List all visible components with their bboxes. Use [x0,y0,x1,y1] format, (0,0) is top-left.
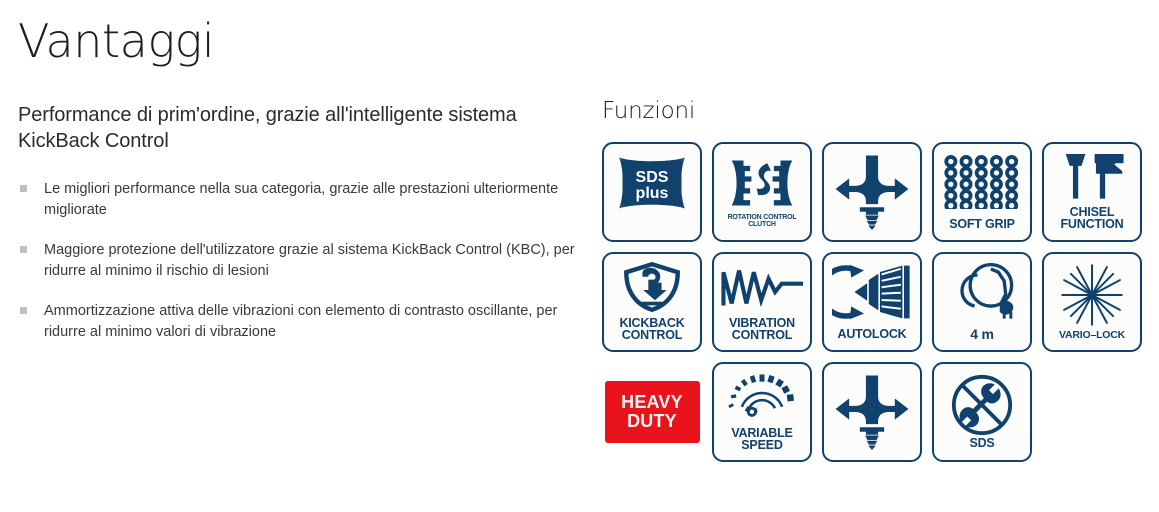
feature-tile-rotation-control: ROTATION CONTROL CLUTCH [712,142,812,242]
radial-starburst-icon [1044,254,1140,326]
drill-screw-arrows-icon [824,144,920,230]
feature-caption: SDS [934,437,1030,450]
feature-tile-autolock: AUTOLOCK [822,252,922,352]
bullet-marker-icon [20,307,27,314]
feature-tile-sds-plus: SDS plus [602,142,702,242]
feature-caption: 4 m [934,327,1030,341]
list-item-text: Ammortizzazione attiva delle vibrazioni … [44,303,557,340]
list-item-text: Le migliori performance nella sua catego… [44,181,558,218]
damped-wave-icon [714,254,810,307]
advantages-list: Le migliori performance nella sua catego… [18,155,583,343]
feature-tile-heavy-duty: HEAVY DUTY [602,362,702,462]
chuck-rotation-icon [824,254,920,320]
sds-plus-label: SDS plus [604,170,700,202]
functions-icon-grid: SDS plus ROTATION CONTROL CLUTCH [602,142,1159,462]
feature-caption: KICKBACK CONTROL [604,317,700,343]
drill-screw-arrows-icon [824,364,920,450]
feature-caption: SOFT GRIP [934,218,1030,231]
feature-caption: AUTOLOCK [824,328,920,341]
coiled-cable-plug-icon [934,254,1030,321]
feature-caption: VIBRATION CONTROL [714,317,810,343]
rotation-control-clutch-icon [714,144,810,210]
shield-arrow-icon [604,254,700,312]
page-title: Vantaggi [18,0,583,64]
feature-caption: CHISEL FUNCTION [1044,206,1140,232]
lead-paragraph: Performance di prim'ordine, grazie all'i… [18,64,558,155]
crossed-wrench-icon [934,364,1030,437]
feature-caption: ROTATION CONTROL CLUTCH [714,214,810,228]
soft-grip-dots-icon [934,144,1030,209]
speed-gauge-icon [714,364,810,419]
functions-title: Funzioni [602,0,1159,123]
list-item-text: Maggiore protezione dell'utilizzatore gr… [44,242,575,279]
feature-tile-hammer-drill [822,142,922,242]
heavy-duty-badge-icon: HEAVY DUTY [605,381,700,443]
bullet-marker-icon [20,246,27,253]
list-item: Ammortizzazione attiva delle vibrazioni … [18,301,583,343]
feature-caption: VARIABLE SPEED [714,427,810,453]
list-item: Maggiore protezione dell'utilizzatore gr… [18,240,583,282]
advantages-page: Vantaggi Performance di prim'ordine, gra… [0,0,1159,512]
advantages-column: Vantaggi Performance di prim'ordine, gra… [18,0,583,343]
feature-tile-soft-grip: SOFT GRIP [932,142,1032,242]
functions-column: Funzioni SDS plus [602,0,1159,462]
bullet-marker-icon [20,185,27,192]
feature-tile-vibration-control: VIBRATION CONTROL [712,252,812,352]
chisel-tools-icon [1044,144,1140,200]
feature-tile-chisel-function: CHISEL FUNCTION [1042,142,1142,242]
feature-tile-hammer-drill-2 [822,362,922,462]
feature-tile-sds: SDS [932,362,1032,462]
feature-tile-vario-lock: VARIO–LOCK [1042,252,1142,352]
feature-tile-cable-length: 4 m [932,252,1032,352]
feature-tile-kickback-control: KICKBACK CONTROL [602,252,702,352]
feature-tile-variable-speed: VARIABLE SPEED [712,362,812,462]
list-item: Le migliori performance nella sua catego… [18,179,583,221]
feature-caption: VARIO–LOCK [1044,330,1140,341]
